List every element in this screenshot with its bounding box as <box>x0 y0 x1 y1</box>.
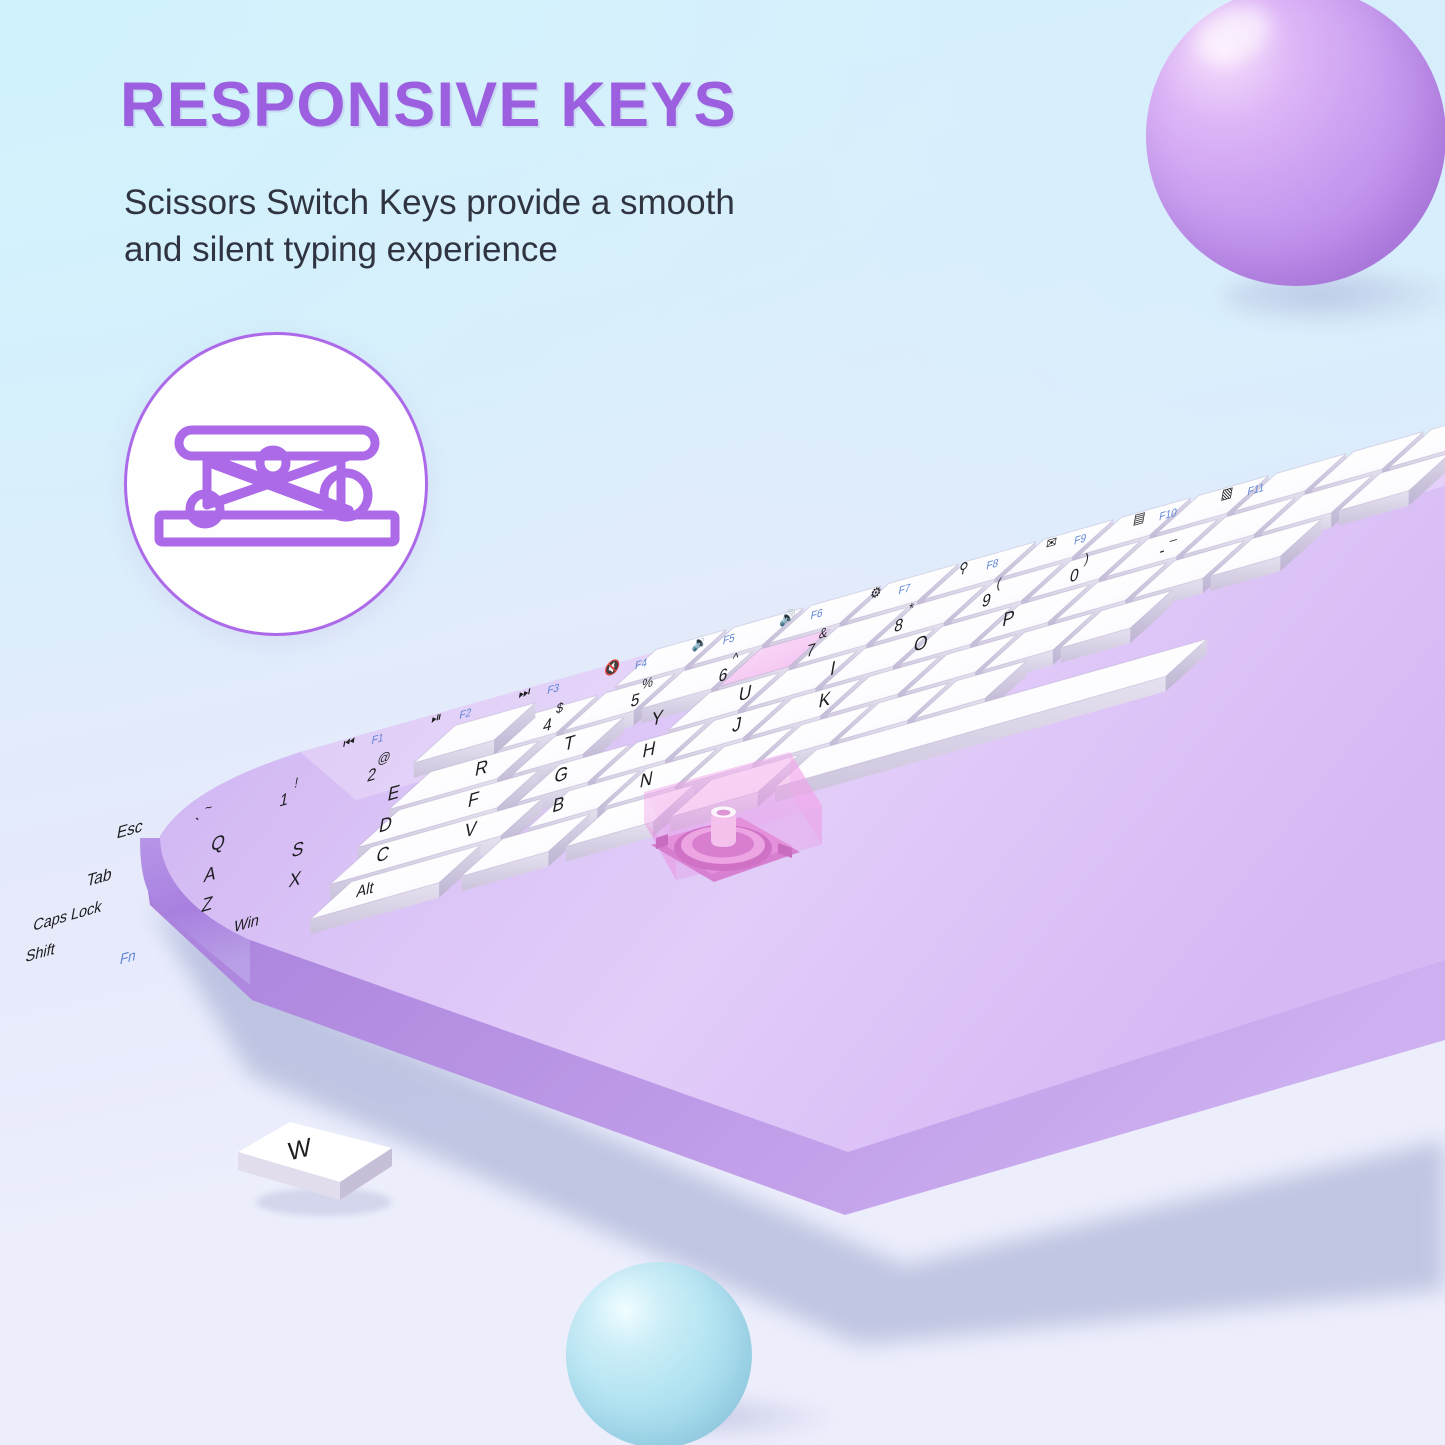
copy-block: RESPONSIVE KEYS Scissors Switch Keys pro… <box>120 72 1060 273</box>
keycap-label: Tab <box>85 864 113 891</box>
keycap-label: Fn <box>118 948 137 969</box>
keycap-label: Caps Lock <box>32 898 103 935</box>
product-feature-image: F1⏮F2⏯F3⏭F4🔇F5🔉F6🔊F7⚙F8⚲F9✉F10▤F11▧~`!1@… <box>0 0 1445 1445</box>
detached-keycap-label: W <box>287 1133 312 1167</box>
subtitle-line-1: Scissors Switch Keys provide a smooth <box>124 183 735 222</box>
scissor-switch-mechanism-icon <box>127 335 425 633</box>
keycap-label: Shift <box>24 940 57 966</box>
page-title: RESPONSIVE KEYS <box>120 72 1060 138</box>
blue-sphere <box>566 1262 752 1445</box>
pivot-top <box>260 450 286 476</box>
page-subtitle: Scissors Switch Keys provide a smooth an… <box>124 180 1029 273</box>
detached-keycap: W <box>228 1110 403 1220</box>
subtitle-line-2: and silent typing experience <box>124 230 558 269</box>
scissor-switch-badge <box>124 332 428 636</box>
switch-stem-bore <box>717 810 731 816</box>
